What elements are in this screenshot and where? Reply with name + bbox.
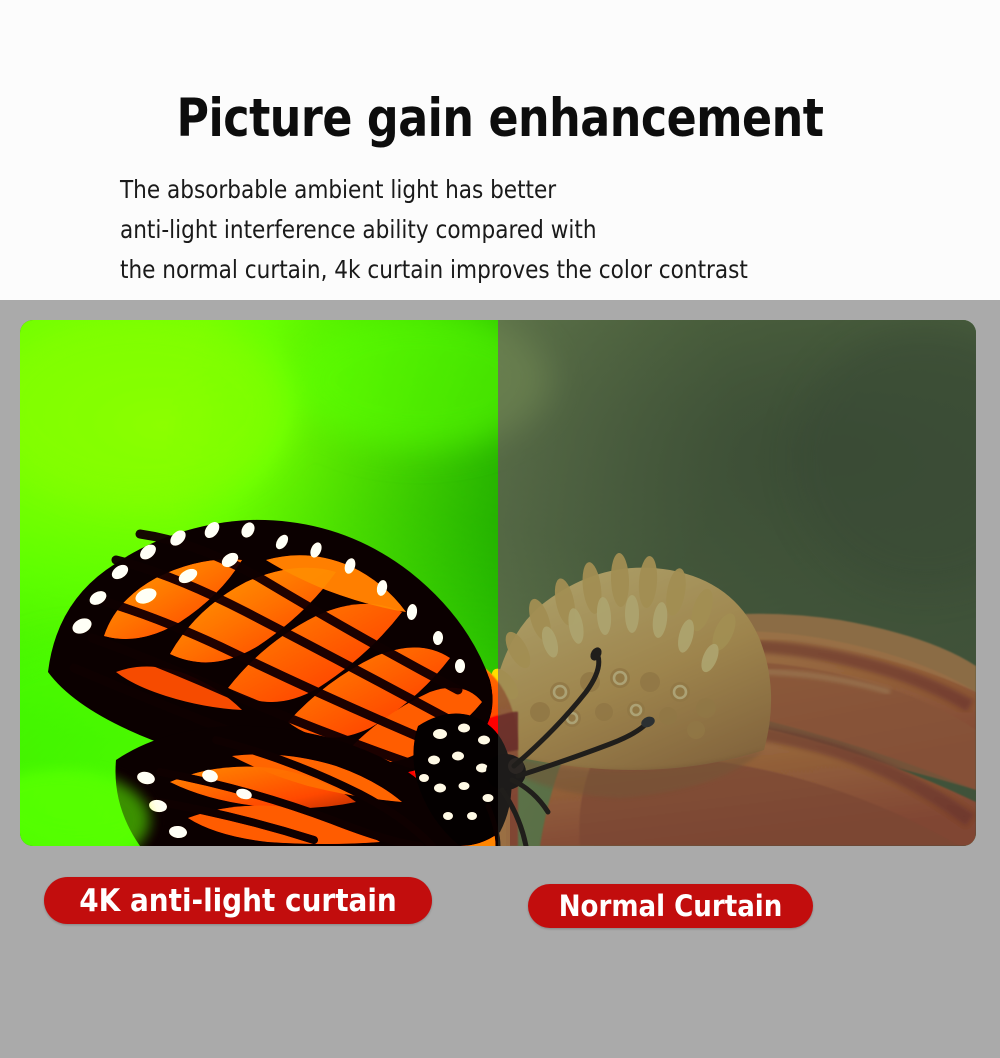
scene-illustration-duplicate	[498, 320, 976, 846]
scene-illustration	[20, 320, 498, 846]
page-description: The absorbable ambient light has better …	[120, 170, 955, 290]
comparison-photo	[20, 320, 976, 846]
description-line-1: The absorbable ambient light has better	[120, 170, 955, 210]
comparison-right-half	[498, 320, 976, 846]
badge-4k-anti-light-curtain[interactable]: 4K anti-light curtain	[44, 877, 432, 924]
scene-right	[498, 320, 976, 846]
comparison-left-half	[20, 320, 498, 846]
description-line-2: anti-light interference ability compared…	[120, 210, 955, 250]
description-line-3: the normal curtain, 4k curtain improves …	[120, 250, 955, 290]
badge-normal-curtain[interactable]: Normal Curtain	[528, 884, 813, 928]
page-root: Picture gain enhancement The absorbable …	[0, 0, 1000, 1058]
scene-left	[20, 320, 498, 846]
page-title: Picture gain enhancement	[35, 88, 965, 150]
